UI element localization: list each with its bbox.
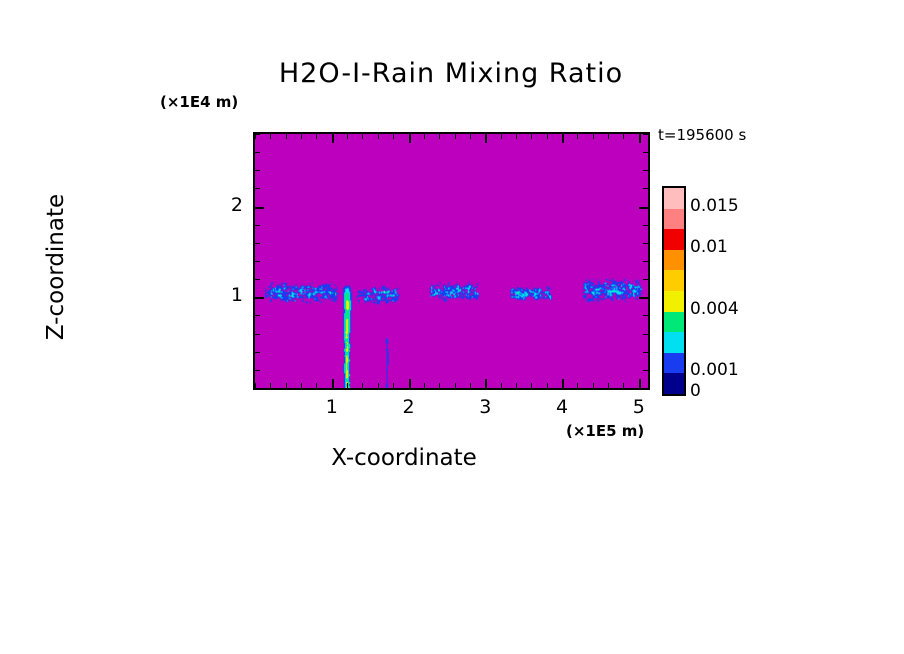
x-minor-tick (286, 383, 287, 388)
x-minor-tick-top (501, 134, 502, 139)
y-minor-tick (255, 352, 260, 353)
colorbar-tick-label: 0.004 (690, 299, 739, 319)
y-minor-tick-right (643, 352, 648, 353)
x-major-tick-top (562, 134, 564, 143)
y-minor-tick (255, 170, 260, 171)
y-minor-tick (255, 315, 260, 316)
x-minor-tick-top (577, 134, 578, 139)
x-minor-tick (455, 383, 456, 388)
x-minor-tick-top (608, 134, 609, 139)
x-minor-tick-top (623, 134, 624, 139)
y-minor-tick (255, 134, 260, 135)
x-minor-tick-top (301, 134, 302, 139)
y-minor-tick-right (643, 315, 648, 316)
x-minor-tick-top (439, 134, 440, 139)
y-minor-tick (255, 152, 260, 153)
x-minor-tick (301, 383, 302, 388)
x-minor-tick-top (270, 134, 271, 139)
y-minor-tick-right (643, 388, 648, 389)
y-minor-tick-right (643, 334, 648, 335)
x-major-tick-top (485, 134, 487, 143)
colorbar-tick-label: 0 (690, 381, 701, 401)
x-major-tick (409, 379, 411, 388)
y-minor-tick-right (643, 370, 648, 371)
y-minor-tick-right (643, 261, 648, 262)
colorbar-band (664, 312, 684, 333)
y-minor-tick (255, 370, 260, 371)
y-minor-tick (255, 243, 260, 244)
x-minor-tick-top (470, 134, 471, 139)
y-minor-tick-right (643, 188, 648, 189)
x-tick-label: 4 (542, 396, 582, 418)
y-minor-tick-right (643, 243, 648, 244)
x-minor-tick-top (531, 134, 532, 139)
colorbar-band (664, 291, 684, 312)
x-minor-tick (316, 383, 317, 388)
colorbar-band (664, 209, 684, 230)
colorbar-band (664, 270, 684, 291)
y-minor-tick (255, 388, 260, 389)
y-minor-tick (255, 279, 260, 280)
x-major-tick-top (409, 134, 411, 143)
x-tick-label: 5 (619, 396, 659, 418)
colorbar-band (664, 229, 684, 250)
x-minor-tick-top (286, 134, 287, 139)
chart-title: H2O-I-Rain Mixing Ratio (0, 58, 904, 89)
x-minor-tick-top (455, 134, 456, 139)
y-major-tick (255, 207, 264, 209)
y-minor-tick-right (643, 152, 648, 153)
x-minor-tick (439, 383, 440, 388)
x-minor-tick (516, 383, 517, 388)
x-major-tick (332, 379, 334, 388)
x-major-tick-top (639, 134, 641, 143)
x-minor-tick-top (593, 134, 594, 139)
y-major-tick (255, 297, 264, 299)
x-minor-tick-top (347, 134, 348, 139)
x-axis-title: X-coordinate (0, 445, 904, 471)
x-minor-tick (378, 383, 379, 388)
x-minor-tick (623, 383, 624, 388)
colorbar-band (664, 373, 684, 394)
colorbar-band (664, 332, 684, 353)
x-minor-tick (531, 383, 532, 388)
x-minor-tick (608, 383, 609, 388)
x-axis-title-text: X-coordinate (331, 445, 477, 471)
x-minor-tick-top (393, 134, 394, 139)
y-tick-label: 2 (203, 194, 243, 216)
y-major-tick-right (639, 207, 648, 209)
colorbar-tick-label: 0.001 (690, 360, 739, 380)
x-minor-tick-top (424, 134, 425, 139)
x-tick-label: 2 (389, 396, 429, 418)
figure-canvas: H2O-I-Rain Mixing Ratio (×1E4 m) t=19560… (0, 0, 904, 654)
y-minor-tick (255, 261, 260, 262)
x-axis-multiplier: (×1E5 m) (566, 422, 644, 440)
y-minor-tick-right (643, 134, 648, 135)
x-minor-tick-top (516, 134, 517, 139)
x-minor-tick-top (378, 134, 379, 139)
x-minor-tick (470, 383, 471, 388)
plot-area (253, 132, 650, 390)
y-minor-tick (255, 334, 260, 335)
x-major-tick (485, 379, 487, 388)
colorbar (662, 186, 686, 396)
x-major-tick (562, 379, 564, 388)
x-tick-label: 3 (465, 396, 505, 418)
y-axis-multiplier: (×1E4 m) (160, 93, 238, 111)
y-axis-title: Z-coordinate (43, 107, 69, 427)
y-major-tick-right (639, 297, 648, 299)
x-minor-tick (593, 383, 594, 388)
x-minor-tick (501, 383, 502, 388)
x-major-tick-top (332, 134, 334, 143)
x-major-tick (639, 379, 641, 388)
contour-field (255, 134, 648, 388)
colorbar-band (664, 188, 684, 209)
colorbar-band (664, 353, 684, 374)
colorbar-tick-label: 0.01 (690, 237, 728, 257)
x-minor-tick (547, 383, 548, 388)
y-minor-tick-right (643, 279, 648, 280)
x-tick-label: 1 (312, 396, 352, 418)
x-minor-tick (424, 383, 425, 388)
x-minor-tick-top (362, 134, 363, 139)
x-minor-tick (393, 383, 394, 388)
x-minor-tick (362, 383, 363, 388)
x-minor-tick (270, 383, 271, 388)
x-minor-tick (577, 383, 578, 388)
x-minor-tick (347, 383, 348, 388)
y-minor-tick (255, 225, 260, 226)
y-tick-label: 1 (203, 284, 243, 306)
x-minor-tick-top (316, 134, 317, 139)
colorbar-tick-label: 0.015 (690, 196, 739, 216)
chart-title-text: H2O-I-Rain Mixing Ratio (279, 58, 623, 89)
timestamp-annotation: t=195600 s (658, 126, 746, 144)
y-minor-tick (255, 188, 260, 189)
colorbar-band (664, 250, 684, 271)
y-minor-tick-right (643, 170, 648, 171)
x-minor-tick-top (547, 134, 548, 139)
y-minor-tick-right (643, 225, 648, 226)
